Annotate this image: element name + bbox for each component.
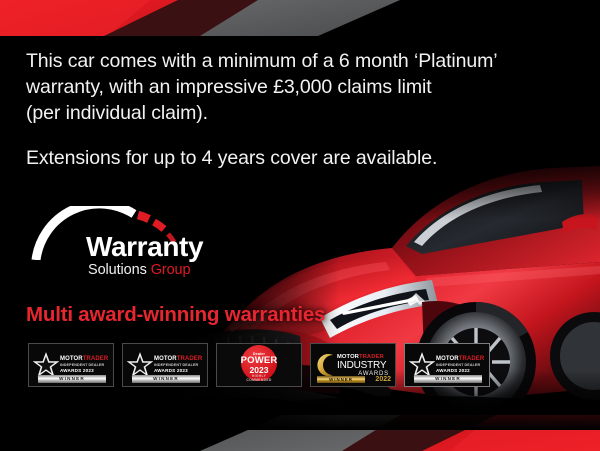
warranty-advert-banner: This car comes with a minimum of a 6 mon… bbox=[0, 0, 600, 451]
warranty-solutions-group-logo[interactable]: Warranty Solutions Group bbox=[30, 206, 245, 288]
badge-ribbon: WINNER bbox=[414, 375, 482, 383]
badge-line-3: AWARDS 2023 bbox=[154, 369, 204, 374]
badge-line-2: INDUSTRY bbox=[337, 360, 395, 371]
logo-subtitle: Solutions Group bbox=[88, 262, 191, 278]
badge-brand-red: TRADER bbox=[359, 354, 384, 360]
award-badge-motor-trader-2023-a[interactable]: MOTORTRADER INDEPENDENT DEALER AWARDS 20… bbox=[28, 343, 114, 387]
badge-brand-white: MOTOR bbox=[154, 356, 177, 362]
logo-subtitle-solutions: Solutions bbox=[88, 262, 151, 278]
badge-ribbon-label: WINNER bbox=[435, 376, 461, 381]
badge-line-3: AWARDS 2023 bbox=[60, 369, 110, 374]
tagline: Multi award-winning warranties bbox=[26, 303, 325, 327]
badge-line-2: INDEPENDENT DEALER bbox=[154, 364, 204, 368]
award-badge-dealer-power-2023[interactable]: Dealer POWER 2023 HIGHLY COMMENDED bbox=[216, 343, 302, 387]
secondary-paragraph: Extensions for up to 4 years cover are a… bbox=[26, 145, 586, 171]
crescent-icon bbox=[314, 353, 336, 377]
badge-power-label: POWER bbox=[241, 356, 278, 366]
award-badge-motor-trader-industry-2022[interactable]: MOTORTRADER INDUSTRY AWARDS WINNER 2022 bbox=[310, 343, 396, 387]
red-sports-car-image bbox=[170, 150, 600, 430]
award-badge-motor-trader-2022[interactable]: MOTORTRADER INDEPENDENT DEALER AWARDS 20… bbox=[404, 343, 490, 387]
badge-ribbon: WINNER bbox=[38, 375, 106, 383]
badge-brand-white: MOTOR bbox=[337, 354, 359, 360]
badge-brand-red: TRADER bbox=[459, 356, 485, 362]
badge-commendation: HIGHLY COMMENDED bbox=[237, 374, 281, 382]
badge-brand-white: MOTOR bbox=[436, 356, 459, 362]
badge-year-label: 2022 bbox=[375, 376, 391, 383]
badge-ribbon-label: WINNER bbox=[329, 377, 353, 382]
logo-brand-name: Warranty bbox=[86, 232, 203, 262]
advert-copy: This car comes with a minimum of a 6 mon… bbox=[26, 48, 586, 171]
badge-ribbon-label: WINNER bbox=[153, 376, 179, 381]
badge-line-3: AWARDS 2022 bbox=[436, 369, 486, 374]
headline-line-3: (per individual claim). bbox=[26, 102, 208, 124]
badge-line-2: INDEPENDENT DEALER bbox=[436, 364, 486, 368]
badge-commend-line-2: COMMENDED bbox=[237, 378, 281, 382]
badge-line-2: INDEPENDENT DEALER bbox=[60, 364, 110, 368]
headline-paragraph: This car comes with a minimum of a 6 mon… bbox=[26, 48, 586, 126]
award-badge-motor-trader-2023-b[interactable]: MOTORTRADER INDEPENDENT DEALER AWARDS 20… bbox=[122, 343, 208, 387]
badge-brand-red: TRADER bbox=[177, 356, 203, 362]
badge-brand-red: TRADER bbox=[83, 356, 109, 362]
badge-ribbon-label: WINNER bbox=[59, 376, 85, 381]
badge-ribbon: WINNER bbox=[132, 375, 200, 383]
award-badges-row: MOTORTRADER INDEPENDENT DEALER AWARDS 20… bbox=[28, 343, 490, 387]
badge-ribbon: WINNER bbox=[317, 376, 365, 384]
badge-brand-white: MOTOR bbox=[60, 356, 83, 362]
logo-subtitle-group: Group bbox=[151, 262, 191, 278]
headline-line-2: warranty, with an impressive £3,000 clai… bbox=[26, 76, 432, 98]
headline-line-1: This car comes with a minimum of a 6 mon… bbox=[26, 50, 498, 72]
